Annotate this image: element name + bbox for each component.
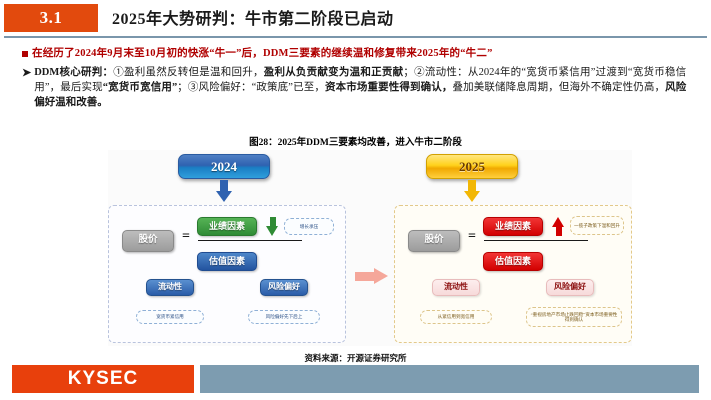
node-valuation-left[interactable]: 估值因素	[197, 252, 257, 271]
triangle-bullet-icon: ➤	[22, 65, 31, 81]
node-valuation-right[interactable]: 估值因素	[483, 252, 543, 271]
equals-sign-right: =	[468, 229, 476, 245]
header-divider	[4, 36, 707, 38]
footer-bar	[200, 365, 699, 393]
arrow-up-earnings-right-icon	[552, 217, 565, 236]
slide-header: 3.1 2025年大势研判：牛市第二阶段已启动	[0, 0, 711, 36]
down-arrow-2024-icon	[216, 180, 232, 202]
bullet-core-paragraph: DDM核心研判：①盈利虽然反转但是温和回升，盈利从负贡献变为温和正贡献；②流动性…	[34, 65, 686, 110]
node-liquidity-right[interactable]: 流动性	[432, 279, 480, 296]
core-text-3: ；③风险偏好：“政策底”已至，	[177, 82, 325, 93]
anno-earnings-right: 一揽子政策下温和回升	[570, 216, 624, 235]
anno-risk-appetite-right: “重视房地产市场止跌回稳”资本市场重要性得到确认	[526, 307, 622, 327]
node-price-left[interactable]: 股价	[122, 230, 174, 252]
node-risk-appetite-left[interactable]: 风险偏好	[260, 279, 308, 296]
node-liquidity-left[interactable]: 流动性	[146, 279, 194, 296]
node-earnings-right[interactable]: 业绩因素	[483, 217, 543, 236]
fraction-bar-right	[484, 240, 588, 241]
bullet-core-row: ➤ DDM核心研判：①盈利虽然反转但是温和回升，盈利从负贡献变为温和正贡献；②流…	[0, 65, 711, 110]
square-bullet-icon	[22, 51, 28, 57]
arrow-down-earnings-left-icon	[266, 217, 279, 236]
core-text-4: 叠加美联储降息周期，但海外不确定性仍高，	[453, 82, 666, 93]
source-note: 资料来源：开源证券研究所	[0, 352, 711, 364]
year-pill-2025[interactable]: 2025	[426, 154, 518, 179]
bullet-headline-row: 在经历了2024年9月末至10月初的快涨“牛一”后，DDM三要素的继续温和修复带…	[0, 46, 711, 62]
core-text-2-bold: “宽货币宽信用”	[103, 82, 177, 93]
anno-risk-appetite-left: 风险偏好先下后上	[248, 310, 320, 324]
year-pill-2024[interactable]: 2024	[178, 154, 270, 179]
node-earnings-left[interactable]: 业绩因素	[197, 217, 257, 236]
node-price-right[interactable]: 股价	[408, 230, 460, 252]
figure-title: 图28：2025年DDM三要素均改善，进入牛市二阶段	[0, 134, 711, 148]
section-number-badge: 3.1	[4, 4, 98, 32]
transition-arrow-icon	[355, 268, 389, 284]
node-risk-appetite-right[interactable]: 风险偏好	[546, 279, 594, 296]
down-arrow-2025-icon	[464, 180, 480, 202]
anno-liquidity-right: 从紧信用到宽信用	[420, 310, 492, 324]
bullet-block: 在经历了2024年9月末至10月初的快涨“牛一”后，DDM三要素的继续温和修复带…	[0, 46, 711, 110]
page-title: 2025年大势研判：牛市第二阶段已启动	[112, 5, 394, 29]
core-label: DDM核心研判：	[34, 67, 113, 78]
equals-sign-left: =	[182, 229, 190, 245]
figure-area: 2024 2025 股价 = 业绩因素 增长承压 估值因素 流动性 风险偏好 宽…	[108, 150, 632, 346]
anno-earnings-left: 增长承压	[284, 218, 334, 235]
core-text-3-bold: 资本市场重要性得到确认，	[325, 82, 453, 93]
core-text-1: ①盈利虽然反转但是温和回升，	[113, 67, 263, 78]
footer-logo-text: KYSEC	[68, 368, 138, 390]
bullet-headline: 在经历了2024年9月末至10月初的快涨“牛一”后，DDM三要素的继续温和修复带…	[32, 46, 493, 62]
fraction-bar-left	[198, 240, 302, 241]
anno-liquidity-left: 宽货币紧信用	[136, 310, 204, 324]
footer-logo: KYSEC	[12, 365, 194, 393]
core-text-1-bold: 盈利从负贡献变为温和正贡献	[264, 67, 404, 78]
